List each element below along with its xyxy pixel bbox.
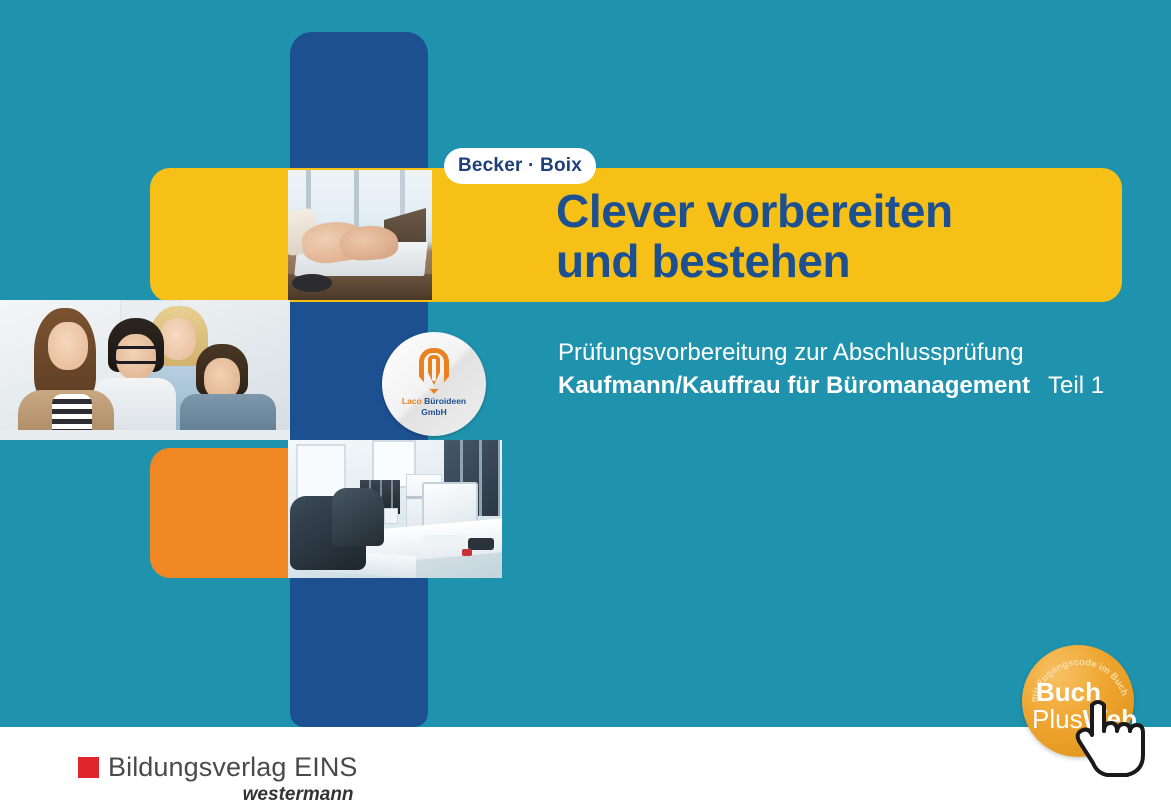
laco-brand: Laco [402, 396, 422, 406]
students-photo [0, 300, 290, 440]
book-cover: Becker · Boix Clever vorbereiten und bes… [0, 0, 1171, 800]
publisher-name: Bildungsverlag EINS [108, 752, 358, 783]
title-line-2: und bestehen [556, 236, 1116, 286]
paperclip-icon [419, 348, 449, 394]
buch-plus-web-badge[interactable]: mit Zugangscode im Buch Buch PlusWeb [1022, 645, 1146, 769]
laco-legal-form: GmbH [421, 407, 447, 417]
authors-label: Becker · Boix [458, 155, 582, 177]
publisher-imprint: westermann [78, 784, 358, 806]
subtitle-course: Kaufmann/Kauffrau für Büromanagement [558, 369, 1030, 403]
publisher-logo: Bildungsverlag EINS westermann [78, 752, 358, 806]
hand-pointer-cursor-icon [1074, 699, 1146, 779]
laco-company-logo: Laco Büroideen GmbH [382, 332, 486, 436]
book-subtitle: Prüfungsvorbereitung zur Abschlussprüfun… [558, 337, 1158, 403]
publisher-red-square-icon [78, 757, 99, 778]
authors-badge: Becker · Boix [444, 148, 596, 184]
laco-name-word: Büroideen [424, 396, 466, 406]
subtitle-part: Teil 1 [1048, 369, 1104, 403]
title-line-1: Clever vorbereiten [556, 186, 1116, 236]
subtitle-exam-line: Prüfungsvorbereitung zur Abschlussprüfun… [558, 337, 1158, 369]
book-title: Clever vorbereiten und bestehen [556, 186, 1116, 286]
laco-logo-text: Laco Büroideen GmbH [382, 396, 486, 418]
office-photo [288, 440, 502, 578]
keyboard-photo [288, 170, 432, 300]
